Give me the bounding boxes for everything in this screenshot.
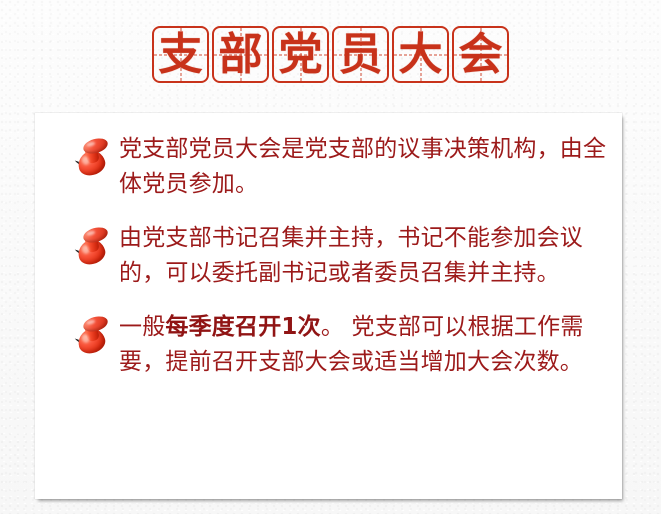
pushpin-icon: [57, 220, 119, 276]
pushpin-icon: [57, 309, 119, 365]
pushpin-icon: [57, 131, 119, 187]
title-char-box-3: 党: [272, 26, 329, 83]
title-char-box-6: 会: [452, 26, 509, 83]
page-background: 支 部 党 员 大 会: [0, 0, 661, 514]
text-segment: 由党支部书记召集并主持，书记不能参加会议的，可以委托副书记或者委员召集并主持。: [119, 225, 583, 286]
title-char-box-1: 支: [152, 26, 209, 83]
title-char-box-2: 部: [212, 26, 269, 83]
list-item-text: 党支部党员大会是党支部的议事决策机构，由全体党员参加。: [119, 131, 612, 202]
list-item-text: 一般每季度召开1次。 党支部可以根据工作需要，提前召开支部大会或适当增加大会次数…: [119, 309, 612, 380]
bullet-list: 党支部党员大会是党支部的议事决策机构，由全体党员参加。 由党支部书记召集并主持，…: [57, 131, 612, 380]
title-char-box-4: 员: [332, 26, 389, 83]
list-item: 由党支部书记召集并主持，书记不能参加会议的，可以委托副书记或者委员召集并主持。: [57, 220, 612, 291]
title-character: 员: [339, 33, 383, 77]
text-segment: 党支部党员大会是党支部的议事决策机构，由全体党员参加。: [119, 136, 606, 197]
title-character: 支: [159, 33, 203, 77]
title-character: 大: [399, 33, 443, 77]
title-char-box-5: 大: [392, 26, 449, 83]
title-character: 部: [219, 33, 263, 77]
text-segment-emphasis: 每季度召开1次: [165, 314, 320, 340]
content-card: 党支部党员大会是党支部的议事决策机构，由全体党员参加。 由党支部书记召集并主持，…: [35, 113, 622, 499]
list-item-text: 由党支部书记召集并主持，书记不能参加会议的，可以委托副书记或者委员召集并主持。: [119, 220, 612, 291]
list-item: 一般每季度召开1次。 党支部可以根据工作需要，提前召开支部大会或适当增加大会次数…: [57, 309, 612, 380]
title-character: 会: [459, 33, 503, 77]
title-character: 党: [279, 33, 323, 77]
text-segment: 一般: [119, 314, 165, 340]
list-item: 党支部党员大会是党支部的议事决策机构，由全体党员参加。: [57, 131, 612, 202]
page-title: 支 部 党 员 大 会: [0, 26, 661, 83]
